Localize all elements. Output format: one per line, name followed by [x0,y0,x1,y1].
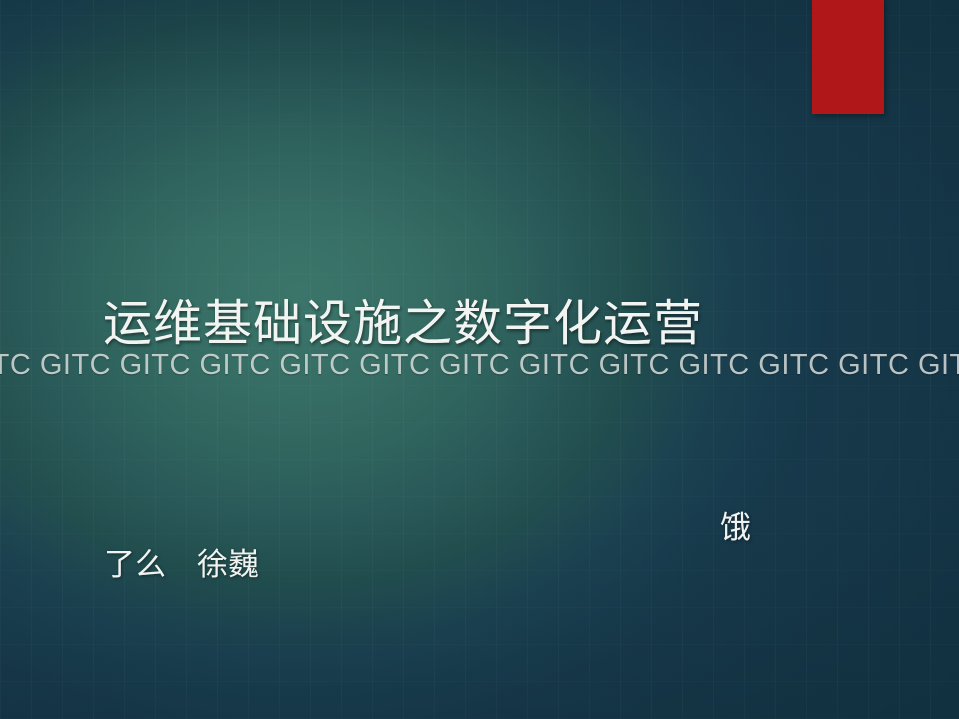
secondary-text: 饿 [720,509,751,547]
presentation-slide: GITC GITC GITC GITC GITC GITC GITC GITC … [0,0,959,719]
red-accent-rectangle [812,0,884,114]
presenter-text: 了么 徐巍 [104,546,259,584]
slide-title: 运维基础设施之数字化运营 [103,295,703,353]
